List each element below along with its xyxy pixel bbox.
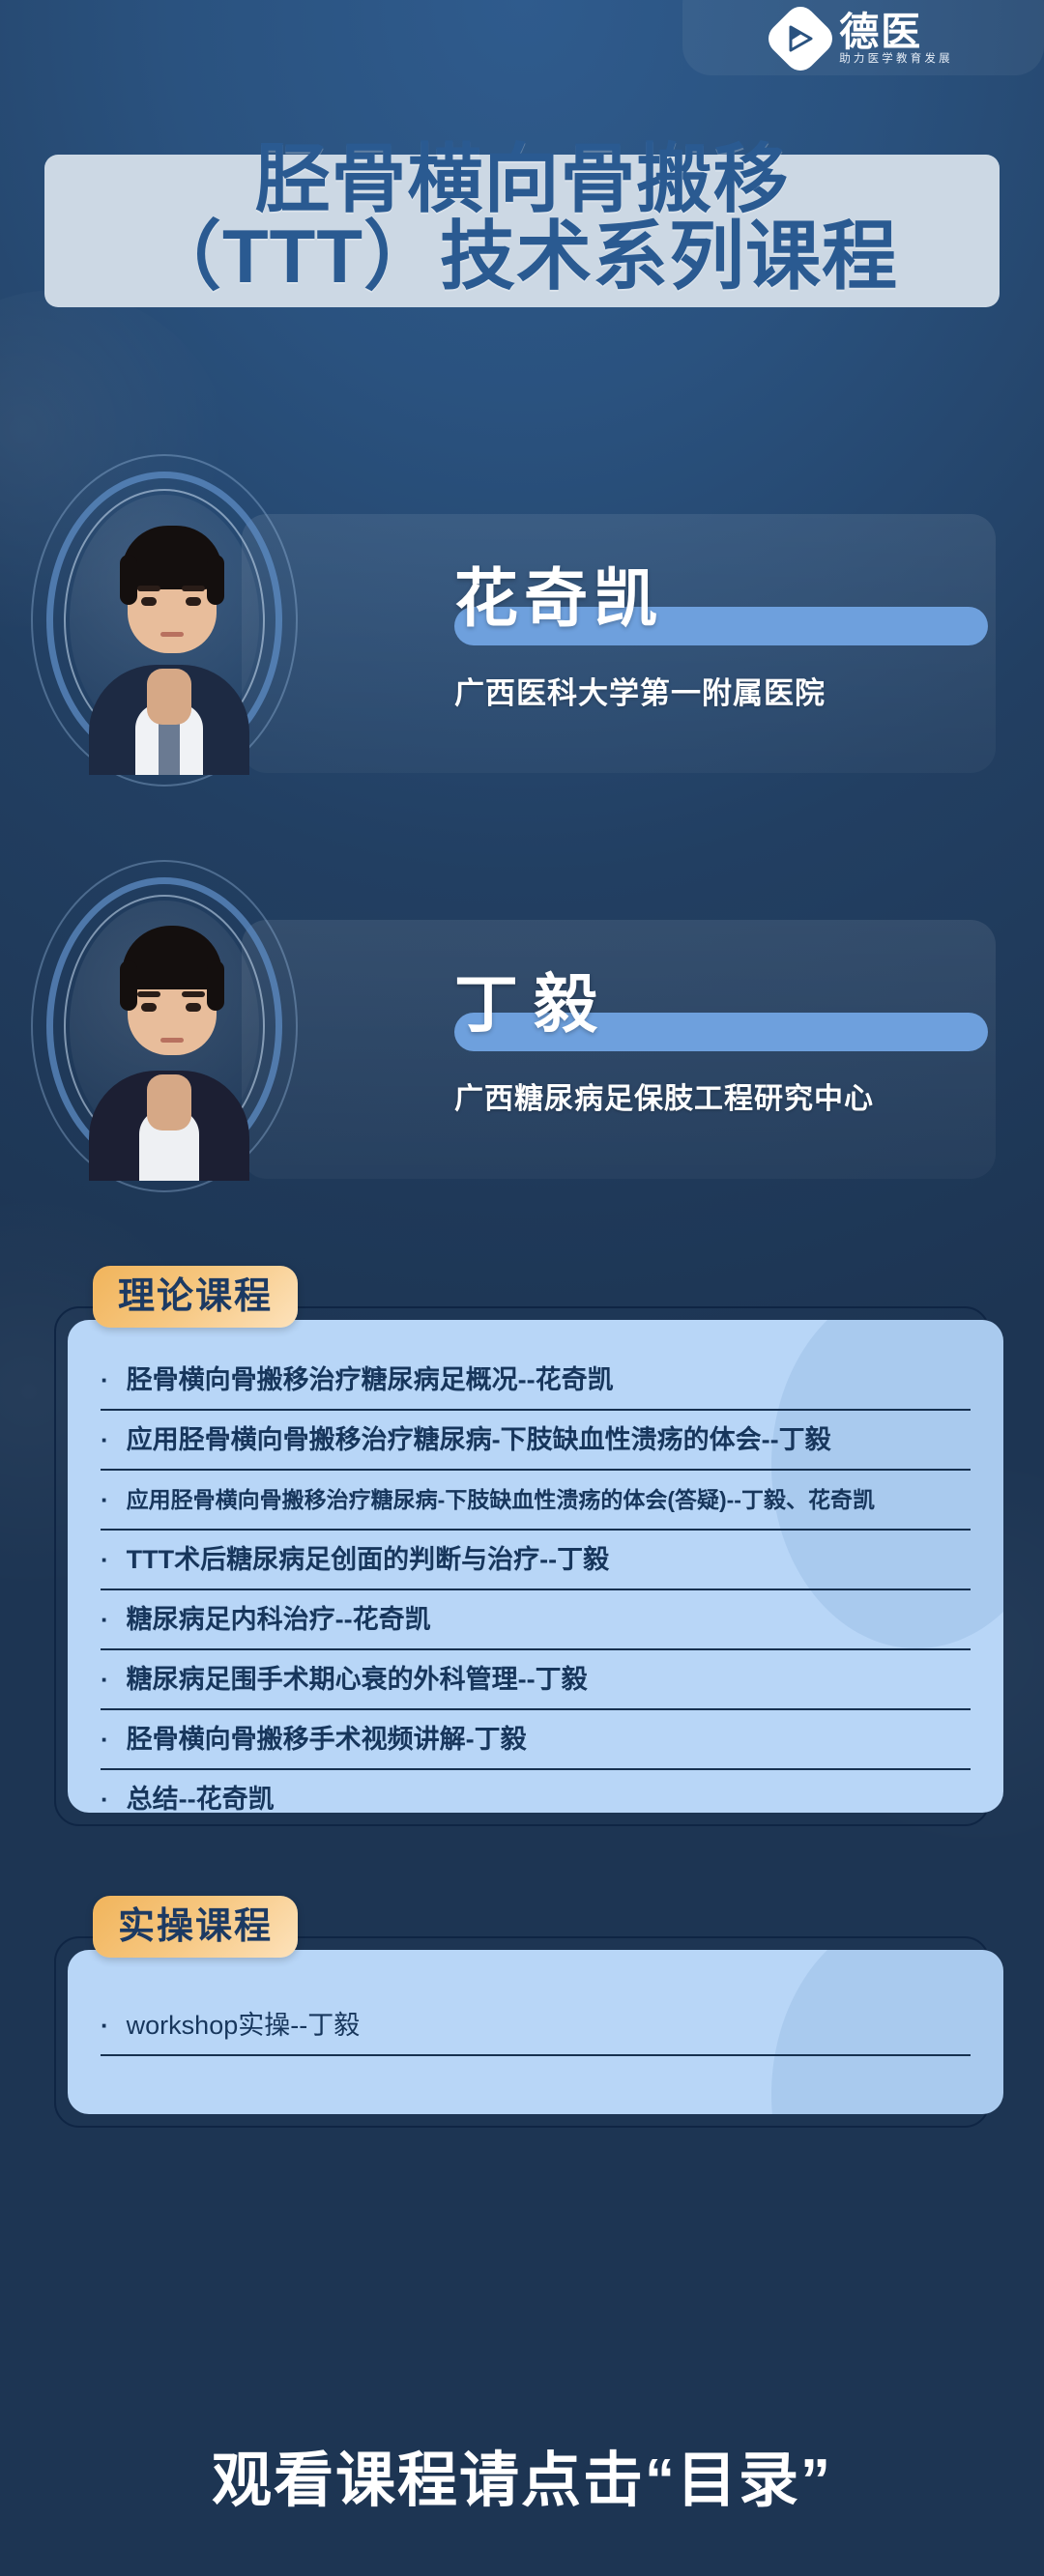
- bullet-icon: ·: [101, 1367, 109, 1392]
- section-theory-courses: · 胫骨横向骨搬移治疗糖尿病足概况--花奇凯 · 应用胫骨横向骨搬移治疗糖尿病-…: [54, 1306, 990, 1826]
- play-diamond-icon: [763, 0, 839, 76]
- course-title: 应用胫骨横向骨搬移治疗糖尿病-下肢缺血性溃疡的体会(答疑)--丁毅、花奇凯: [127, 1489, 875, 1511]
- bullet-icon: ·: [101, 1727, 109, 1752]
- bullet-icon: ·: [101, 1607, 109, 1632]
- speaker-org: 广西糖尿病足保肢工程研究中心: [454, 1074, 996, 1117]
- bullet-icon: ·: [101, 2013, 109, 2038]
- list-item[interactable]: · 应用胫骨横向骨搬移治疗糖尿病-下肢缺血性溃疡的体会(答疑)--丁毅、花奇凯: [101, 1471, 971, 1531]
- section-card: · 胫骨横向骨搬移治疗糖尿病足概况--花奇凯 · 应用胫骨横向骨搬移治疗糖尿病-…: [68, 1320, 1003, 1813]
- speaker-avatar-rings: [25, 446, 315, 802]
- bullet-icon: ·: [101, 1427, 109, 1452]
- page-title-line-1: 胫骨横向骨搬移: [0, 141, 1044, 218]
- list-item[interactable]: · 胫骨横向骨搬移手术视频讲解-丁毅: [101, 1710, 971, 1770]
- speaker-name-wrap: 丁毅: [454, 972, 996, 1036]
- course-title: 应用胫骨横向骨搬移治疗糖尿病-下肢缺血性溃疡的体会--丁毅: [127, 1427, 831, 1453]
- brand-logo[interactable]: 德医 助力医学教育发展: [682, 0, 1044, 75]
- bullet-icon: ·: [101, 1667, 109, 1692]
- section-badge-theory: 理论课程: [93, 1266, 298, 1328]
- speaker-name: 花奇凯: [454, 566, 996, 630]
- list-item[interactable]: · 应用胫骨横向骨搬移治疗糖尿病-下肢缺血性溃疡的体会--丁毅: [101, 1411, 971, 1471]
- footer-cta: 观看课程请点击“目录”: [0, 2431, 1044, 2518]
- course-title: 胫骨横向骨搬移手术视频讲解-丁毅: [127, 1727, 527, 1753]
- course-title: 总结--花奇凯: [127, 1787, 275, 1813]
- speaker-card-1: 花奇凯 广西医科大学第一附属医院: [0, 454, 1044, 821]
- bullet-icon: ·: [101, 1547, 109, 1572]
- bullet-icon: ·: [101, 1787, 109, 1812]
- course-title: 糖尿病足内科治疗--花奇凯: [127, 1607, 431, 1633]
- bullet-icon: ·: [101, 1487, 109, 1512]
- list-item[interactable]: · TTT术后糖尿病足创面的判断与治疗--丁毅: [101, 1531, 971, 1590]
- speaker-name-wrap: 花奇凯: [454, 566, 996, 630]
- list-item[interactable]: · 糖尿病足围手术期心衰的外科管理--丁毅: [101, 1650, 971, 1710]
- poster-root: 德医 助力医学教育发展 胫骨横向骨搬移 （TTT）技术系列课程: [0, 0, 1044, 2576]
- list-item[interactable]: · 胫骨横向骨搬移治疗糖尿病足概况--花奇凯: [101, 1351, 971, 1411]
- section-card: · workshop实操--丁毅: [68, 1950, 1003, 2114]
- course-title: 糖尿病足围手术期心衰的外科管理--丁毅: [127, 1667, 588, 1693]
- list-item[interactable]: · 总结--花奇凯: [101, 1770, 971, 1813]
- section-badge-practical: 实操课程: [93, 1896, 298, 1958]
- avatar: [72, 891, 265, 1181]
- course-title: TTT术后糖尿病足创面的判断与治疗--丁毅: [127, 1547, 609, 1573]
- speaker-avatar-rings: [25, 852, 315, 1208]
- page-title: 胫骨横向骨搬移 （TTT）技术系列课程: [0, 141, 1044, 295]
- list-item[interactable]: · 糖尿病足内科治疗--花奇凯: [101, 1590, 971, 1650]
- brand-name: 德医: [839, 13, 953, 52]
- section-practical-courses: · workshop实操--丁毅 实操课程: [54, 1936, 990, 2128]
- course-list-theory: · 胫骨横向骨搬移治疗糖尿病足概况--花奇凯 · 应用胫骨横向骨搬移治疗糖尿病-…: [68, 1320, 1003, 1813]
- course-title: workshop实操--丁毅: [127, 2013, 361, 2039]
- brand-tagline: 助力医学教育发展: [839, 54, 953, 66]
- course-list-practical: · workshop实操--丁毅: [68, 1950, 1003, 2056]
- avatar: [72, 485, 265, 775]
- speaker-card-2: 丁毅 广西糖尿病足保肢工程研究中心: [0, 860, 1044, 1227]
- course-title: 胫骨横向骨搬移治疗糖尿病足概况--花奇凯: [127, 1367, 614, 1393]
- speaker-name: 丁毅: [454, 972, 996, 1036]
- speaker-org: 广西医科大学第一附属医院: [454, 669, 996, 712]
- page-title-line-2: （TTT）技术系列课程: [0, 218, 1044, 296]
- list-item[interactable]: · workshop实操--丁毅: [101, 1996, 971, 2056]
